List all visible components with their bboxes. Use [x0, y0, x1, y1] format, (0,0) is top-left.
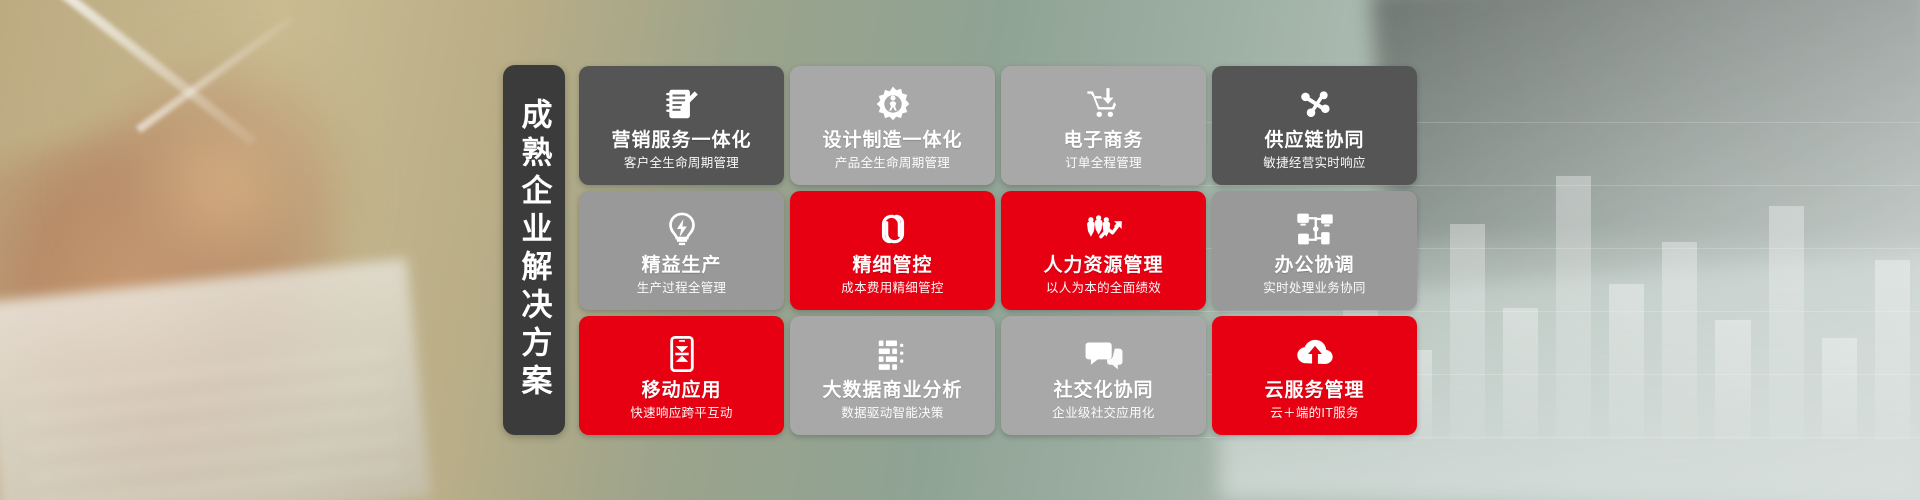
- shopping-cart-download-icon: [1085, 84, 1123, 124]
- solution-card[interactable]: 营销服务一体化客户全生命周期管理: [579, 66, 784, 185]
- mobile-app-icon: [663, 334, 701, 374]
- card-title: 供应链协同: [1264, 131, 1364, 152]
- card-subtitle: 客户全生命周期管理: [624, 157, 739, 171]
- paperclip-link-icon: [874, 209, 912, 249]
- card-subtitle: 以人为本的全面绩效: [1046, 282, 1161, 296]
- solution-card[interactable]: 供应链协同敏捷经营实时响应: [1212, 66, 1417, 185]
- network-share-icon: [1296, 84, 1334, 124]
- vertical-banner: 成熟企业解决方案: [503, 65, 565, 435]
- lightbulb-bolt-icon: [663, 209, 701, 249]
- card-grid: 营销服务一体化客户全生命周期管理 设计制造一体化产品全生命周期管理 电子商务订单…: [579, 66, 1417, 435]
- card-title: 办公协调: [1274, 256, 1354, 277]
- chat-bubbles-icon: [1084, 334, 1124, 374]
- cloud-upload-icon: [1295, 334, 1335, 374]
- card-title: 人力资源管理: [1043, 256, 1163, 277]
- solution-card[interactable]: 大数据商业分析数据驱动智能决策: [790, 316, 995, 435]
- card-title: 设计制造一体化: [822, 131, 962, 152]
- banner-title: 成熟企业解决方案: [519, 98, 550, 402]
- card-subtitle: 企业级社交应用化: [1052, 407, 1154, 421]
- card-title: 移动应用: [641, 381, 721, 402]
- card-subtitle: 云＋端的IT服务: [1270, 407, 1359, 421]
- solution-card[interactable]: 社交化协同企业级社交应用化: [1001, 316, 1206, 435]
- solution-card[interactable]: 设计制造一体化产品全生命周期管理: [790, 66, 995, 185]
- solution-card[interactable]: 办公协调实时处理业务协同: [1212, 191, 1417, 310]
- solution-card[interactable]: 云服务管理云＋端的IT服务: [1212, 316, 1417, 435]
- card-subtitle: 实时处理业务协同: [1263, 282, 1365, 296]
- solution-card[interactable]: 精细管控成本费用精细管控: [790, 191, 995, 310]
- data-blocks-icon: [874, 334, 912, 374]
- solution-card[interactable]: 人力资源管理以人为本的全面绩效: [1001, 191, 1206, 310]
- people-growth-icon: [1084, 209, 1124, 249]
- gear-person-icon: [874, 84, 912, 124]
- card-title: 精益生产: [641, 256, 721, 277]
- devices-network-icon: [1295, 209, 1335, 249]
- solution-matrix: 成熟企业解决方案 营销服务一体化客户全生命周期管理 设计制造一体化产品全生命周期…: [0, 0, 1920, 500]
- solution-card[interactable]: 电子商务订单全程管理: [1001, 66, 1206, 185]
- card-title: 电子商务: [1063, 131, 1143, 152]
- card-subtitle: 快速响应跨平互动: [630, 407, 732, 421]
- notepad-pencil-icon: [663, 84, 701, 124]
- card-title: 精细管控: [852, 256, 932, 277]
- card-subtitle: 产品全生命周期管理: [835, 157, 950, 171]
- solution-card[interactable]: 精益生产生产过程全管理: [579, 191, 784, 310]
- card-subtitle: 成本费用精细管控: [841, 282, 943, 296]
- solution-card[interactable]: 移动应用快速响应跨平互动: [579, 316, 784, 435]
- card-subtitle: 生产过程全管理: [637, 282, 727, 296]
- card-subtitle: 数据驱动智能决策: [841, 407, 943, 421]
- card-subtitle: 订单全程管理: [1065, 157, 1142, 171]
- card-title: 云服务管理: [1264, 381, 1364, 402]
- card-subtitle: 敏捷经营实时响应: [1263, 157, 1365, 171]
- card-title: 社交化协同: [1053, 381, 1153, 402]
- card-title: 大数据商业分析: [822, 381, 962, 402]
- card-title: 营销服务一体化: [611, 131, 751, 152]
